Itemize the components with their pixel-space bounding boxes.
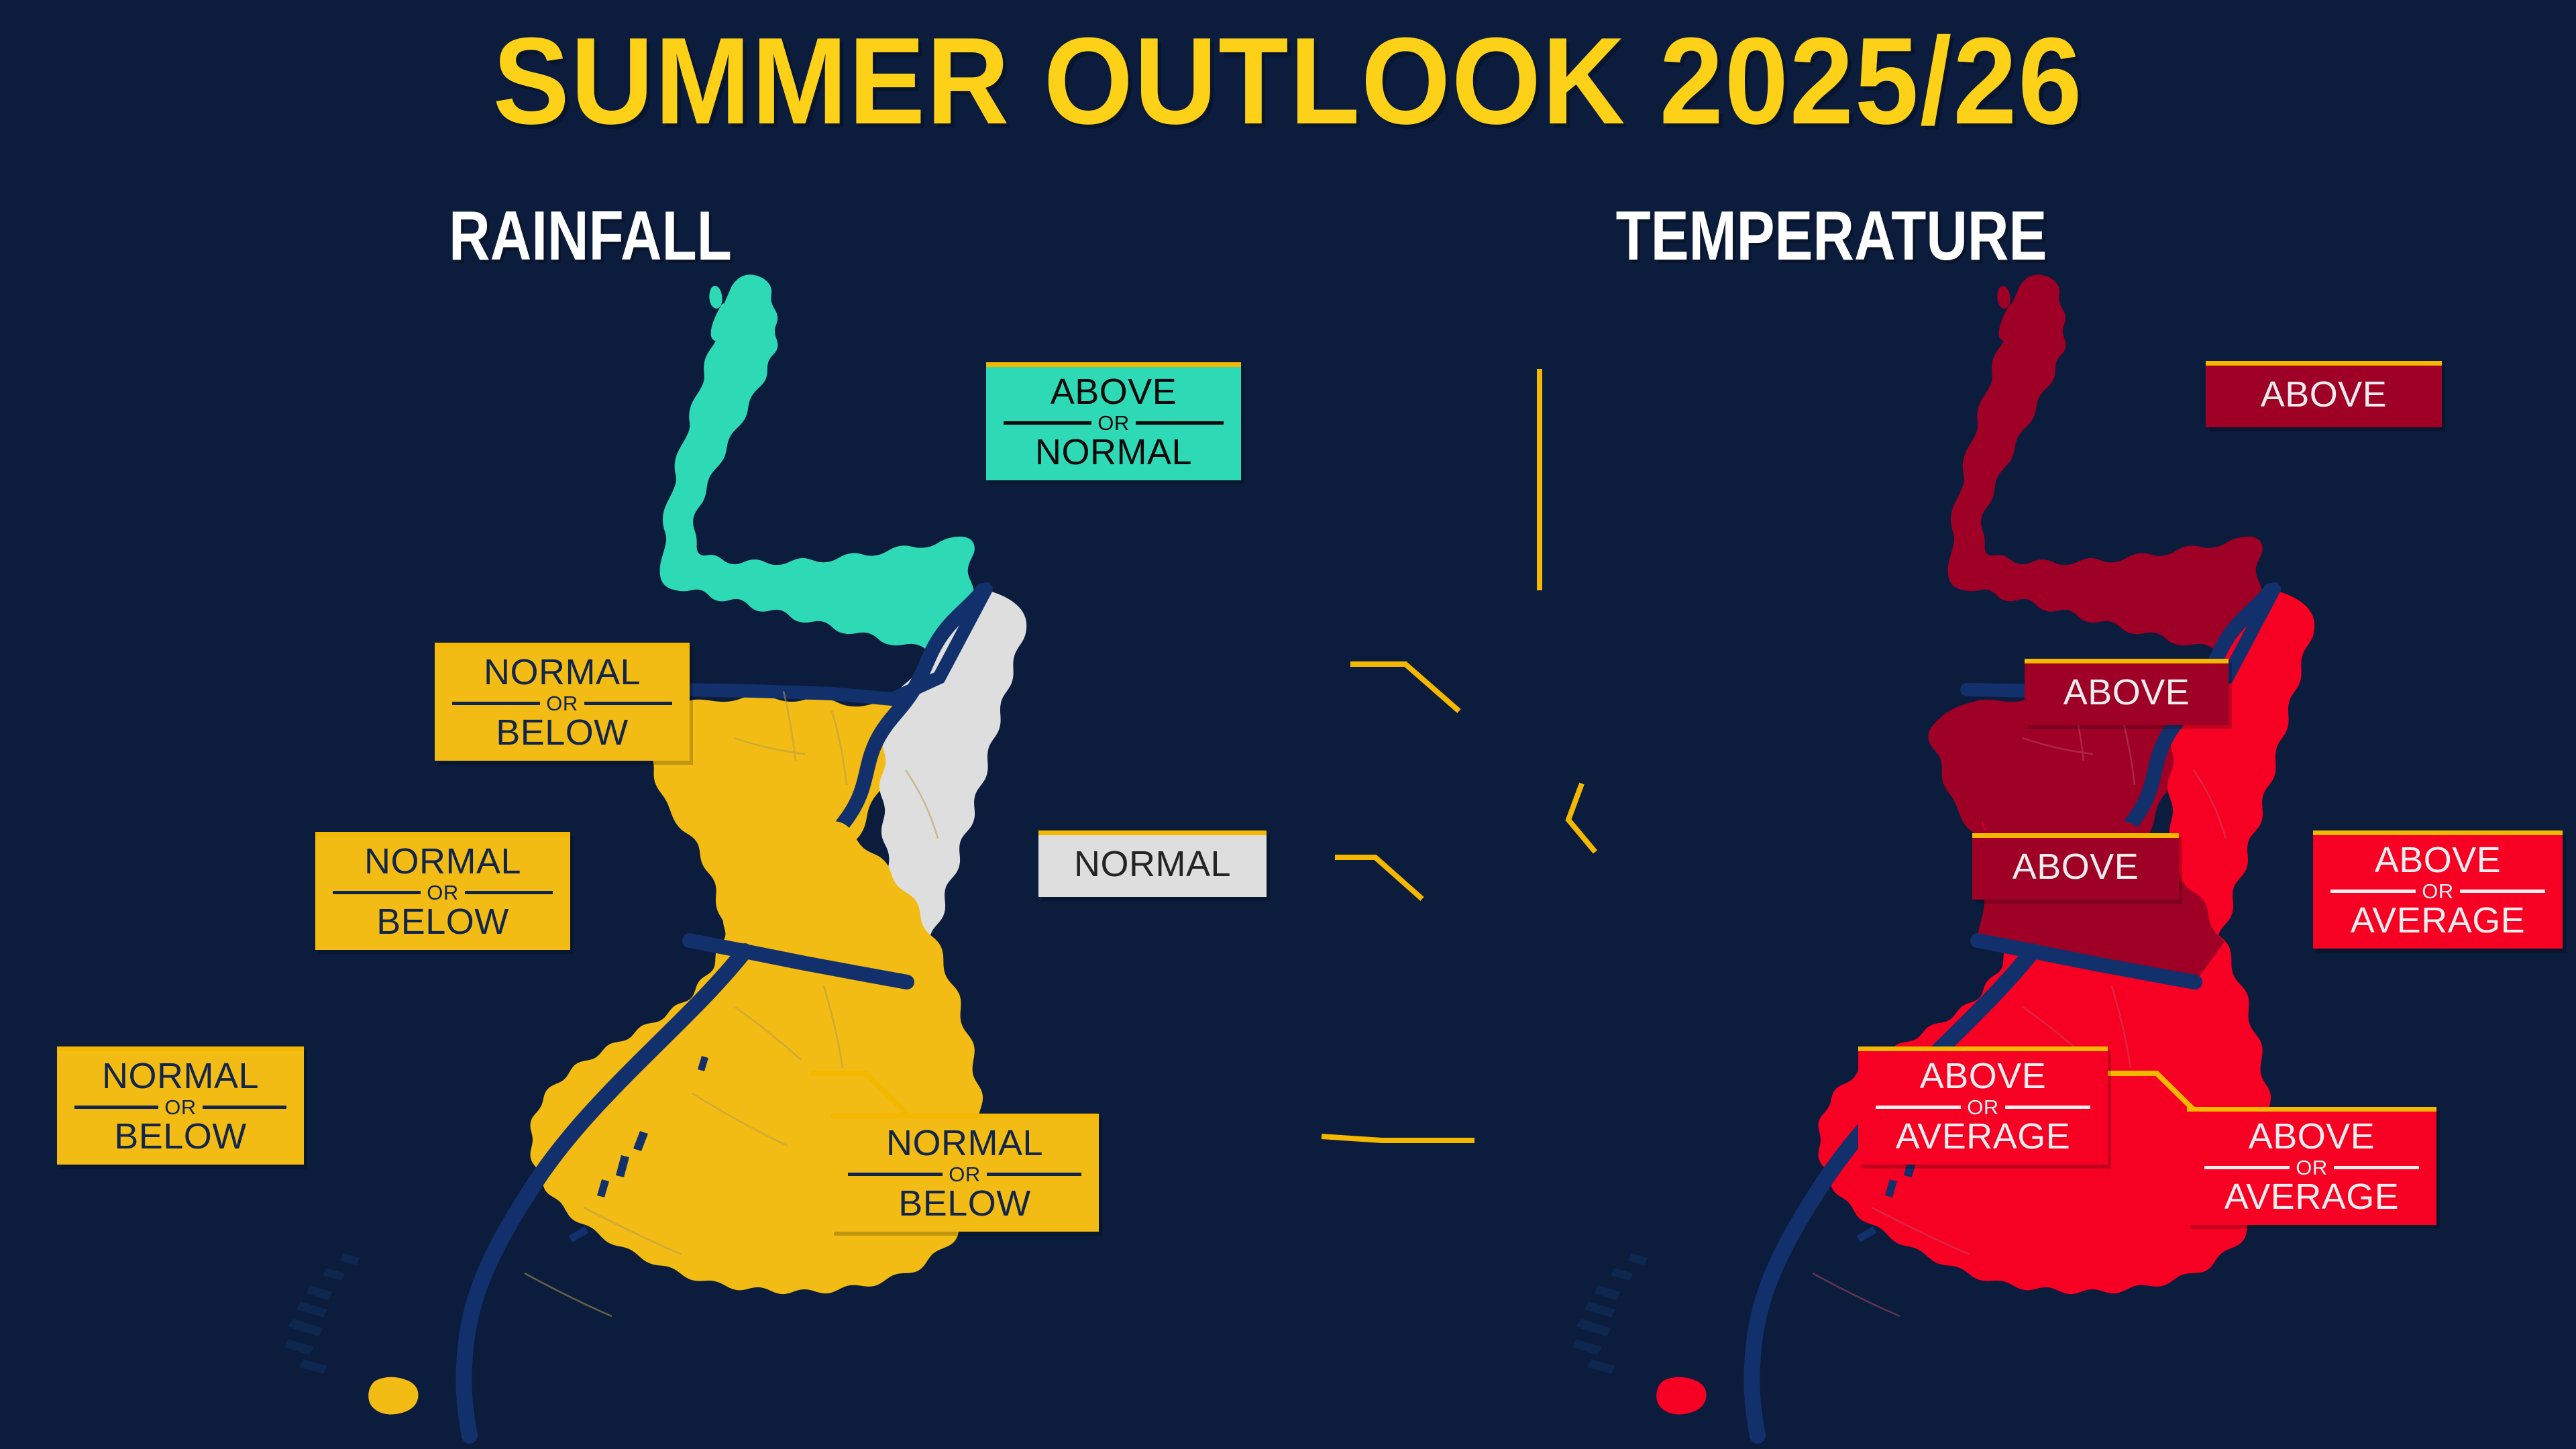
- label-rain-north-south-island[interactable]: NORMAL OR BELOW: [315, 832, 570, 950]
- region-stewart-island: [368, 1377, 418, 1415]
- label-line-1: NORMAL: [848, 1125, 1081, 1163]
- or-separator: OR: [333, 882, 553, 903]
- fiordland-fjords: [284, 1253, 360, 1374]
- or-text: OR: [427, 882, 459, 903]
- rule-right: [2334, 1166, 2419, 1169]
- label-rain-north[interactable]: ABOVE OR NORMAL: [986, 362, 1241, 480]
- rule-right: [2460, 890, 2545, 893]
- or-text: OR: [2296, 1157, 2328, 1178]
- label-line-2: AVERAGE: [2204, 1179, 2419, 1216]
- label-line-1: ABOVE: [1876, 1058, 2090, 1095]
- label-line-1: ABOVE: [2045, 674, 2208, 712]
- or-text: OR: [1967, 1097, 1999, 1118]
- or-text: OR: [546, 693, 578, 714]
- label-line-2: BELOW: [452, 714, 672, 752]
- rule-left: [74, 1106, 158, 1109]
- region-stewart-island-temp: [1656, 1377, 1706, 1415]
- or-separator: OR: [1876, 1097, 2090, 1118]
- label-line-1: ABOVE: [2330, 842, 2545, 879]
- rule-right: [584, 702, 672, 705]
- rainfall-heading: RAINFALL: [370, 201, 810, 271]
- region-north-island-north-darkred: [1948, 274, 2263, 655]
- or-separator: OR: [74, 1097, 286, 1118]
- rule-left: [1004, 421, 1091, 425]
- label-line-2: AVERAGE: [1876, 1118, 2090, 1156]
- rule-left: [2330, 890, 2416, 893]
- rule-left: [452, 702, 540, 705]
- label-line-1: NORMAL: [1059, 846, 1246, 883]
- label-rain-west-north-island[interactable]: NORMAL OR BELOW: [435, 643, 690, 761]
- label-line-1: ABOVE: [2226, 376, 2422, 414]
- label-temp-east-south-island[interactable]: ABOVE OR AVERAGE: [2187, 1107, 2436, 1225]
- or-text: OR: [1097, 413, 1130, 433]
- region-north-island-north-teal: [660, 274, 975, 655]
- label-line-2: NORMAL: [1004, 434, 1224, 472]
- or-separator: OR: [1004, 413, 1224, 433]
- rule-right: [1136, 421, 1224, 425]
- rule-right: [2005, 1106, 2090, 1109]
- or-separator: OR: [848, 1164, 1081, 1185]
- rule-left: [848, 1173, 943, 1176]
- or-text: OR: [949, 1164, 981, 1185]
- rule-left: [2204, 1166, 2290, 1169]
- fiordland-fjords-temp: [1572, 1253, 1648, 1374]
- label-line-1: ABOVE: [1992, 849, 2159, 886]
- label-temp-east-north-island[interactable]: ABOVE OR AVERAGE: [2313, 830, 2563, 949]
- label-temp-north-south-island[interactable]: ABOVE: [1972, 833, 2179, 900]
- rule-left: [1876, 1106, 1961, 1109]
- or-separator: OR: [2330, 881, 2545, 902]
- or-text: OR: [164, 1097, 197, 1118]
- infographic-canvas: SUMMER OUTLOOK 2025/26 RAINFALL TEMPERAT…: [0, 0, 2576, 1449]
- rule-right: [203, 1106, 286, 1109]
- label-line-1: ABOVE: [2204, 1118, 2419, 1156]
- label-temp-west-south-island[interactable]: ABOVE OR AVERAGE: [1858, 1046, 2108, 1165]
- label-rain-east-south-island[interactable]: NORMAL OR BELOW: [830, 1114, 1099, 1232]
- rule-left: [333, 891, 421, 894]
- or-text: OR: [2422, 881, 2454, 902]
- label-temp-north[interactable]: ABOVE: [2206, 361, 2442, 427]
- label-line-1: NORMAL: [333, 843, 553, 881]
- label-line-2: AVERAGE: [2330, 902, 2545, 940]
- label-rain-east-north-island[interactable]: NORMAL: [1038, 830, 1267, 897]
- label-rain-west-south-island[interactable]: NORMAL OR BELOW: [57, 1046, 304, 1165]
- temperature-heading: TEMPERATURE: [1584, 201, 2079, 271]
- page-title: SUMMER OUTLOOK 2025/26: [90, 19, 2485, 142]
- label-temp-west-north-island[interactable]: ABOVE: [2025, 659, 2229, 725]
- label-line-1: ABOVE: [1004, 374, 1224, 411]
- label-line-1: NORMAL: [452, 654, 672, 692]
- label-line-2: BELOW: [848, 1185, 1081, 1223]
- label-line-2: BELOW: [333, 904, 553, 941]
- rule-right: [465, 891, 553, 894]
- label-line-2: BELOW: [74, 1118, 286, 1156]
- or-separator: OR: [2204, 1157, 2419, 1178]
- label-line-1: NORMAL: [74, 1058, 286, 1095]
- rule-right: [987, 1173, 1081, 1176]
- or-separator: OR: [452, 693, 672, 714]
